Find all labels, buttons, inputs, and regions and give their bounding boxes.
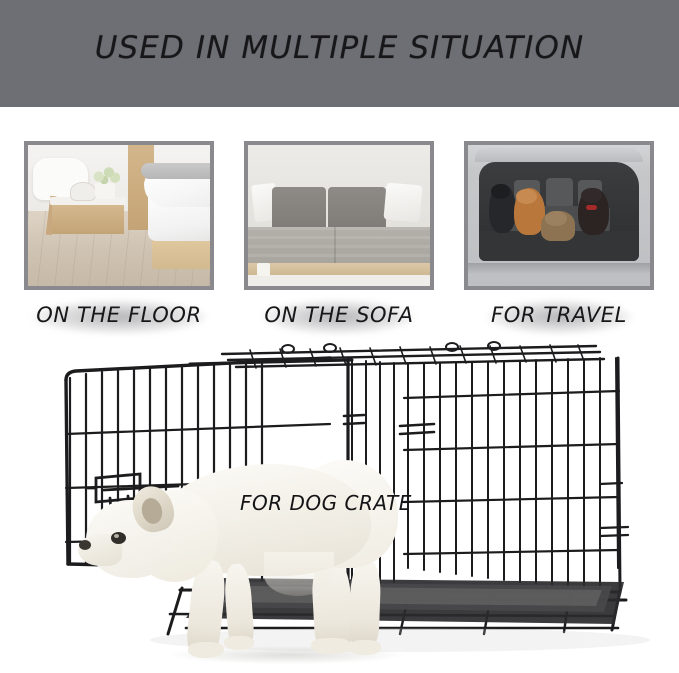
page-title: USED IN MULTIPLE SITUATION bbox=[0, 30, 679, 66]
throw-blanket-shape bbox=[141, 163, 210, 179]
panel-frame bbox=[244, 141, 434, 290]
dog-head-shape bbox=[545, 211, 567, 226]
sofa-back-cushion-shape bbox=[272, 187, 327, 232]
pillow-shape bbox=[383, 183, 422, 223]
panel-frame bbox=[464, 141, 654, 290]
panel-frame bbox=[24, 141, 214, 290]
panel-caption-sofa: ON THE SOFA bbox=[229, 303, 449, 327]
cargo-opening-shape bbox=[479, 162, 639, 261]
bumper-shape bbox=[468, 263, 650, 273]
hatch-door-shape bbox=[475, 148, 642, 162]
sofa-back-cushion-shape bbox=[328, 187, 386, 232]
product-caption: FOR DOG CRATE bbox=[240, 491, 412, 515]
nightstand-shape bbox=[52, 204, 125, 234]
plant-foliage-shape bbox=[88, 165, 124, 186]
sofa-seat-seam bbox=[334, 227, 337, 265]
crate-tray-shape bbox=[186, 578, 624, 624]
car-cargo-dogs-image bbox=[468, 145, 650, 286]
sofa-image bbox=[248, 145, 430, 286]
bedroom-floor-image bbox=[28, 145, 210, 286]
dog-head-shape bbox=[516, 189, 537, 205]
use-case-panel-floor[interactable] bbox=[24, 141, 214, 290]
floor-shape bbox=[248, 275, 430, 286]
dog-collar-shape bbox=[586, 205, 597, 210]
header-banner: USED IN MULTIPLE SITUATION bbox=[0, 0, 679, 107]
use-case-panel-row bbox=[0, 141, 679, 291]
use-case-panel-sofa[interactable] bbox=[244, 141, 434, 290]
use-case-panel-travel[interactable] bbox=[464, 141, 654, 290]
panel-caption-travel: FOR TRAVEL bbox=[449, 303, 669, 327]
panel-caption-floor: ON THE FLOOR bbox=[9, 303, 229, 327]
side-object-shape bbox=[257, 263, 270, 276]
sofa-seat-shape bbox=[248, 227, 430, 265]
headrest-shape bbox=[546, 178, 573, 209]
